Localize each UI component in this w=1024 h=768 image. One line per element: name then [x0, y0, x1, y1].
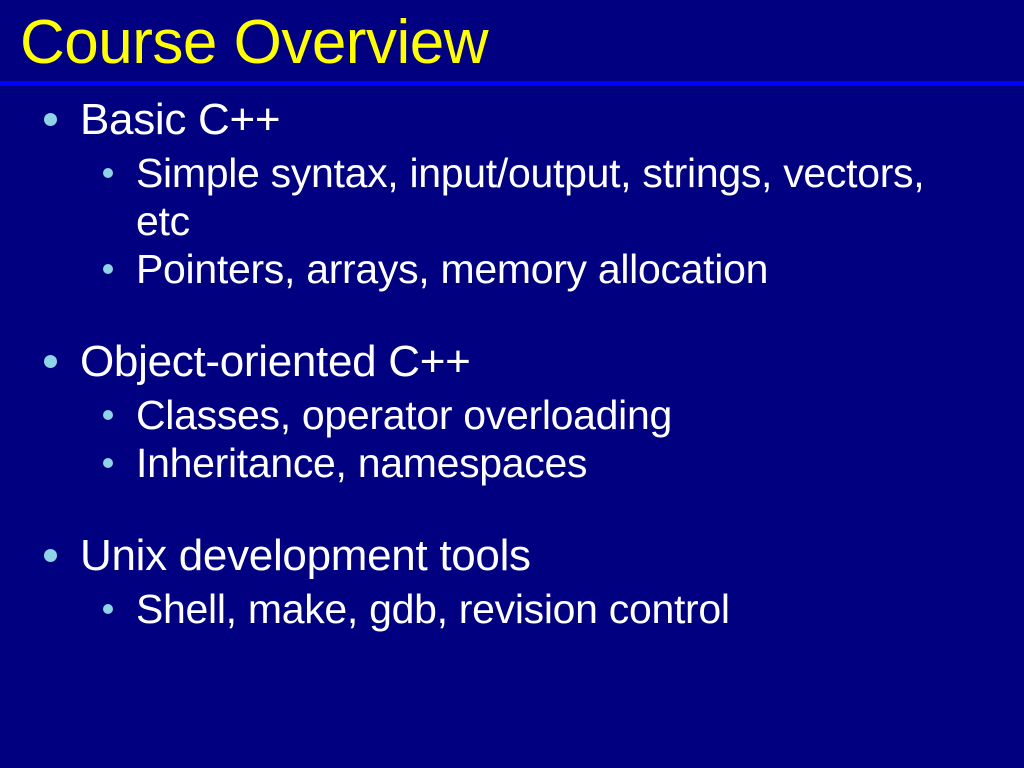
bullet-group: Basic C++ Simple syntax, input/output, s… [0, 95, 1024, 293]
bullet-group: Unix development tools Shell, make, gdb,… [0, 531, 1024, 633]
sub-bullet-list: Shell, make, gdb, revision control [0, 585, 1024, 633]
bullet-text: Shell, make, gdb, revision control [136, 585, 730, 633]
bullet-text: Pointers, arrays, memory allocation [136, 245, 768, 293]
bullet-text: Object-oriented C++ [80, 337, 471, 387]
slide-body: Basic C++ Simple syntax, input/output, s… [0, 95, 1024, 633]
bullet-dot-icon [103, 458, 113, 468]
bullet-item-level1: Basic C++ [0, 95, 1024, 145]
bullet-dot-icon [103, 604, 113, 614]
bullet-dot-icon [103, 410, 113, 420]
bullet-dot-icon [44, 113, 57, 126]
bullet-group: Object-oriented C++ Classes, operator ov… [0, 337, 1024, 487]
bullet-text: Inheritance, namespaces [136, 439, 587, 487]
title-divider [0, 81, 1024, 86]
sub-bullet-list: Simple syntax, input/output, strings, ve… [0, 149, 1024, 293]
bullet-item-level2: Classes, operator overloading [0, 391, 1024, 439]
bullet-text: Simple syntax, input/output, strings, ve… [136, 149, 946, 245]
bullet-dot-icon [103, 168, 113, 178]
bullet-item-level2: Pointers, arrays, memory allocation [0, 245, 1024, 293]
bullet-item-level1: Unix development tools [0, 531, 1024, 581]
bullet-dot-icon [103, 264, 113, 274]
presentation-slide: Course Overview Basic C++ Simple syntax,… [0, 0, 1024, 768]
bullet-item-level2: Shell, make, gdb, revision control [0, 585, 1024, 633]
bullet-dot-icon [44, 549, 57, 562]
bullet-text: Classes, operator overloading [136, 391, 672, 439]
bullet-item-level2: Inheritance, namespaces [0, 439, 1024, 487]
sub-bullet-list: Classes, operator overloading Inheritanc… [0, 391, 1024, 487]
page-title: Course Overview [20, 6, 488, 80]
bullet-item-level2: Simple syntax, input/output, strings, ve… [0, 149, 1024, 245]
bullet-item-level1: Object-oriented C++ [0, 337, 1024, 387]
bullet-text: Unix development tools [80, 531, 531, 581]
bullet-dot-icon [44, 355, 57, 368]
slide-title-block: Course Overview [0, 0, 1024, 86]
bullet-text: Basic C++ [80, 95, 280, 145]
